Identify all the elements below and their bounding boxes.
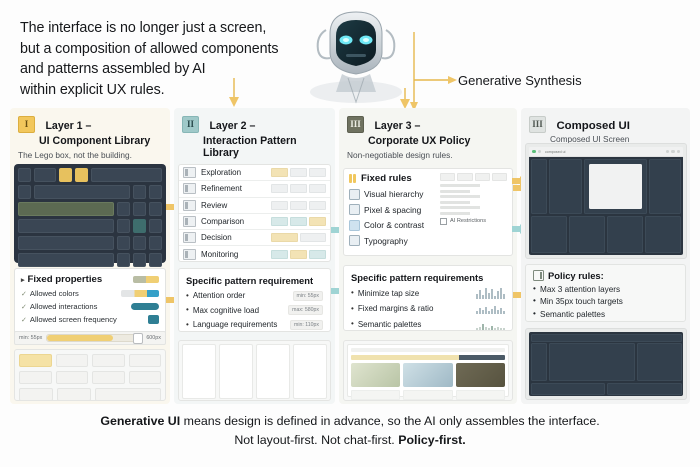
bullet-icon: •	[186, 306, 189, 314]
component-library-mockup[interactable]	[14, 164, 166, 263]
bullet-icon: •	[351, 289, 354, 297]
layer-3-title-line-1: Layer 3 –	[374, 120, 420, 132]
pattern-thumbnail	[271, 216, 326, 227]
allowed-interactions-row[interactable]: ✓ Allowed interactions	[21, 302, 159, 311]
policy-icon	[533, 270, 544, 281]
bullet-icon: •	[186, 321, 189, 329]
spec-item-label: Max cognitive load	[193, 306, 259, 315]
spec-item[interactable]: • Semantic palettes	[351, 319, 505, 330]
minimize-icon[interactable]	[666, 150, 670, 154]
layer-2-spec-panel: Specific pattern requirement • Attention…	[178, 268, 331, 332]
maximize-icon[interactable]	[671, 150, 675, 154]
bullet-icon: •	[351, 320, 354, 328]
spec-item-label: Attention order	[193, 291, 245, 300]
list-item[interactable]: Monitoring	[179, 246, 330, 262]
fixed-rules-detail: AI Restrictions	[435, 173, 507, 251]
footer-line-1: Generative UI means design is defined in…	[0, 412, 700, 431]
pattern-thumbnail	[271, 167, 326, 178]
app-window: composed ui	[529, 147, 683, 255]
pattern-icon	[183, 249, 196, 260]
footer-strong-2: Policy-first.	[398, 433, 465, 447]
typography-icon	[349, 235, 360, 246]
app-window-secondary	[529, 332, 683, 396]
slider-fill	[47, 335, 113, 341]
fixed-rules-left: Fixed rules Visual hierarchy Pixel & spa…	[349, 173, 435, 251]
toggle-swatch[interactable]	[133, 276, 159, 283]
pattern-icon	[183, 200, 196, 211]
fixed-rules-panel: Fixed rules Visual hierarchy Pixel & spa…	[343, 168, 513, 256]
detail-text-line	[440, 195, 507, 198]
composed-ui-title: Composed UI	[556, 120, 629, 132]
detail-chip-bar	[440, 173, 507, 181]
pattern-thumbnail	[271, 200, 326, 211]
chart-panel[interactable]	[569, 216, 605, 253]
layer-2-title-line-1: Layer 2 –	[209, 120, 255, 132]
footer-line-2: Not layout-first. Not chat-first. Policy…	[0, 431, 700, 450]
column-3-header: III Layer 3 – Corporate UX Policy Non-ne…	[339, 108, 517, 164]
composed-ui-screen-secondary[interactable]	[525, 328, 687, 400]
gallery-row	[351, 363, 505, 387]
allowed-colors-label: Allowed colors	[30, 289, 79, 298]
check-icon: ✓	[21, 290, 27, 298]
layer-1-title-line-1: Layer 1 –	[45, 120, 91, 132]
media-panel[interactable]	[607, 216, 643, 253]
window-title: composed ui	[545, 150, 565, 154]
slider-min-label: min: 55px	[19, 335, 42, 341]
bars-icon	[349, 173, 357, 184]
layer-3-thumbnail-strip[interactable]	[343, 340, 513, 401]
close-icon[interactable]	[677, 150, 681, 154]
layer-1-thumbnail-strip[interactable]	[14, 349, 166, 401]
right-panel[interactable]	[649, 159, 682, 214]
content-panel[interactable]	[584, 159, 647, 214]
composed-ui-badge: III	[529, 116, 546, 133]
expand-triangle-icon[interactable]: ▸	[21, 277, 25, 284]
pattern-thumbnail	[271, 249, 326, 260]
pattern-icon	[183, 216, 196, 227]
color-swatch[interactable]	[121, 290, 159, 297]
spec-item[interactable]: • Max cognitive load max: 580px	[186, 305, 323, 315]
footer-line-2-text: Not layout-first. Not chat-first.	[234, 433, 398, 447]
dashboard-body	[529, 157, 683, 255]
fixed-rule-item[interactable]: Visual hierarchy	[349, 189, 435, 200]
pattern-label: Review	[201, 201, 227, 210]
layer-3-subtitle: Non-negotiable design rules.	[347, 150, 509, 160]
policy-rule-item: Semantic palettes	[533, 310, 678, 319]
detail-text-line	[440, 212, 507, 215]
interaction-pattern-list[interactable]: Exploration Refinement Review Comparison…	[178, 164, 331, 262]
pattern-label: Refinement	[201, 184, 242, 193]
interaction-toggle[interactable]	[131, 303, 159, 310]
detail-text-line	[440, 190, 507, 193]
sparkline-chart	[476, 319, 505, 330]
column-4-header: III Composed UI Composed UI Screen	[521, 108, 690, 148]
spec-item-label: Fixed margins & ratio	[358, 304, 434, 313]
column-1-header: I Layer 1 – UI Component Library The Leg…	[10, 108, 170, 164]
pattern-thumbnail	[271, 232, 326, 243]
spec-item-tag: max: 580px	[288, 305, 323, 315]
fixed-rule-label: Visual hierarchy	[364, 189, 423, 199]
sparkline-chart	[476, 288, 505, 299]
layer-2-badge: II	[182, 116, 199, 133]
policy-rule-item: Max 3 attention layers	[533, 285, 678, 294]
generative-synthesis-label: Generative Synthesis	[458, 73, 582, 88]
pattern-label: Exploration	[201, 168, 241, 177]
spec-item-label: Semantic palettes	[358, 320, 422, 329]
fixed-rule-item[interactable]: Typography	[349, 235, 435, 246]
spec-title: Specific pattern requirement	[186, 275, 323, 286]
spec-item-tag: min: 110px	[290, 320, 323, 330]
allowed-screen-frequency-row[interactable]: ✓ Allowed screen frequency	[21, 315, 159, 324]
spec-item[interactable]: • Fixed margins & ratio	[351, 303, 505, 314]
sparkline-chart	[476, 303, 505, 314]
spec-item-tag: min: 55px	[293, 291, 324, 301]
table-panel[interactable]	[549, 343, 636, 381]
connector-arrow-layer1	[225, 78, 245, 110]
detail-panel[interactable]	[637, 343, 681, 381]
policy-rules-title: Policy rules:	[533, 270, 678, 281]
modal-dialog[interactable]	[589, 164, 642, 209]
spec-item[interactable]: • Attention order min: 55px	[186, 291, 323, 301]
toolbar-panel[interactable]	[531, 334, 682, 342]
allowed-screen-frequency-label: Allowed screen frequency	[30, 315, 117, 324]
detail-text-line	[440, 184, 507, 187]
fixed-properties-panel: ▸Fixed properties ✓ Allowed colors ✓ All…	[14, 268, 166, 336]
layer-1-badge: I	[18, 116, 35, 133]
fixed-properties-title: ▸Fixed properties	[21, 274, 159, 285]
fixed-rule-label: Pixel & spacing	[364, 205, 421, 215]
thumb-tile[interactable]	[256, 344, 290, 399]
list-item[interactable]: Refinement	[179, 181, 330, 197]
color-contrast-icon	[349, 220, 360, 231]
spec-item[interactable]: • Language requirements min: 110px	[186, 320, 323, 330]
footer-panel[interactable]	[607, 383, 682, 395]
layer-3-title-line-2: Corporate UX Policy	[368, 135, 509, 147]
sidebar-panel[interactable]	[531, 343, 547, 381]
allowed-interactions-label: Allowed interactions	[30, 302, 98, 311]
nav-panel[interactable]	[549, 159, 582, 214]
list-item[interactable]: Review	[179, 198, 330, 214]
layer-2-title-line-2: Interaction Pattern Library	[203, 135, 327, 159]
footer-panel[interactable]	[531, 383, 606, 395]
layer-2-thumbnail-strip[interactable]	[178, 340, 331, 401]
infographic-root: The interface is no longer just a screen…	[0, 0, 700, 467]
slider-max-label: 600px	[146, 335, 161, 341]
spec-item-label: Minimize tap size	[358, 289, 419, 298]
spec-item[interactable]: • Minimize tap size	[351, 288, 505, 299]
policy-rule-item: Min 35px touch targets	[533, 297, 678, 306]
detail-text-line	[440, 206, 507, 209]
fixed-rule-item[interactable]: Color & contrast	[349, 220, 435, 231]
fixed-rule-label: Color & contrast	[364, 220, 424, 230]
list-item[interactable]: Decision	[179, 230, 330, 246]
ai-restrictions-label: AI Restrictions	[450, 218, 486, 224]
allowed-colors-row[interactable]: ✓ Allowed colors	[21, 289, 159, 298]
layer-3-badge: III	[347, 116, 364, 133]
ai-restrictions-row[interactable]: AI Restrictions	[440, 218, 507, 225]
frequency-badge[interactable]	[148, 315, 159, 324]
pixel-spacing-icon	[349, 204, 360, 215]
pattern-label: Comparison	[201, 217, 244, 226]
connector-arrows-top	[404, 28, 484, 112]
layer-1-title-line-2: UI Component Library	[39, 135, 162, 147]
detail-text-line	[440, 201, 507, 204]
list-item[interactable]: Comparison	[179, 214, 330, 230]
policy-rules-panel: Policy rules: Max 3 attention layers Min…	[525, 264, 686, 322]
layer-3-spec-panel: Specific pattern requirements • Minimize…	[343, 265, 513, 331]
status-dot-icon	[532, 150, 536, 154]
composed-ui-screen-main[interactable]: composed ui	[525, 143, 687, 259]
list-item[interactable]: Exploration	[179, 165, 330, 181]
footer-caption: Generative UI means design is defined in…	[0, 412, 700, 450]
bullet-icon: •	[351, 305, 354, 313]
card-panel[interactable]	[531, 216, 567, 253]
pattern-label: Monitoring	[201, 250, 238, 259]
spec-item-label: Language requirements	[193, 320, 278, 329]
stats-panel[interactable]	[645, 216, 681, 253]
fixed-rules-title: Fixed rules	[349, 173, 435, 184]
pattern-icon	[183, 167, 196, 178]
checkbox-icon[interactable]	[440, 218, 447, 225]
slider-track[interactable]	[46, 334, 142, 342]
thumb-tile[interactable]	[293, 344, 327, 399]
bullet-icon: •	[186, 292, 189, 300]
window-titlebar: composed ui	[529, 147, 683, 157]
check-icon: ✓	[21, 316, 27, 324]
footer-strong-1: Generative UI	[100, 414, 180, 428]
fixed-rule-label: Typography	[364, 236, 408, 246]
window-dot-icon	[538, 150, 542, 154]
visual-hierarchy-icon	[349, 189, 360, 200]
pattern-thumbnail	[271, 183, 326, 194]
fixed-rule-item[interactable]: Pixel & spacing	[349, 204, 435, 215]
spec-title: Specific pattern requirements	[351, 272, 505, 283]
pattern-icon	[183, 232, 196, 243]
thumb-tile[interactable]	[219, 344, 253, 399]
pattern-label: Decision	[201, 233, 232, 242]
sidebar-panel[interactable]	[531, 159, 547, 214]
pattern-icon	[183, 183, 196, 194]
layer-1-subtitle: The Lego box, not the building.	[18, 150, 162, 160]
check-icon: ✓	[21, 303, 27, 311]
slider-knob[interactable]	[133, 333, 143, 344]
thumb-tile[interactable]	[182, 344, 216, 399]
screen-size-slider[interactable]: min: 55px 600px	[14, 331, 166, 345]
footer-rest-1: means design is defined in advance, so t…	[180, 414, 599, 428]
